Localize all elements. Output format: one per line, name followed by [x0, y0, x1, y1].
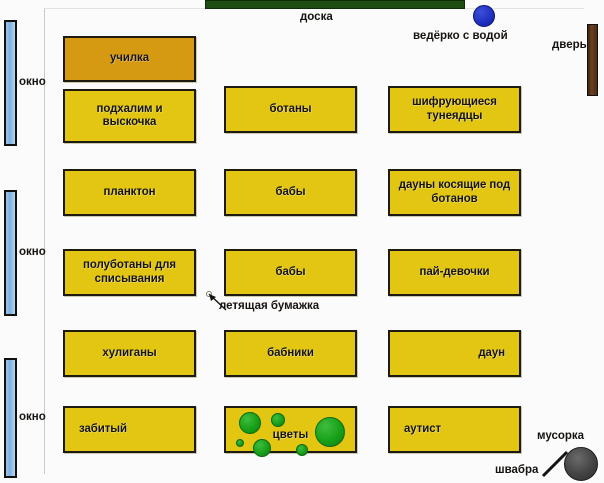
desk-label: ботаны [265, 103, 315, 116]
student-desk: подхалим и выскочка [63, 89, 196, 143]
student-desk: бабники [224, 330, 357, 377]
teacher-desk: училка [63, 36, 196, 82]
window-1 [4, 20, 17, 146]
flower-pot-icon [253, 439, 271, 457]
flying-paper-label: летящая бумажка [219, 300, 319, 312]
student-desk: полуботаны для списывания [63, 249, 196, 296]
flower-pot-icon [271, 413, 285, 427]
window-label-1: окно [19, 76, 46, 88]
mop-label: швабра [495, 464, 538, 476]
classroom-seating-diagram: доска ведёрко с водой дверь окноокноокно… [0, 0, 604, 483]
desk-label: бабы [271, 266, 309, 279]
window-3 [4, 358, 17, 478]
desk-label: бабники [263, 347, 318, 360]
desk-label: училка [106, 52, 153, 65]
flower-pot-icon [296, 444, 308, 456]
student-desk: пай-девочки [388, 249, 521, 296]
window-label-2: окно [19, 246, 46, 258]
desk-label: даун [474, 347, 519, 360]
desk-label: шифрующиеся тунеядцы [390, 96, 519, 122]
water-bucket-label: ведёрко с водой [413, 30, 508, 42]
desk-label: подхалим и выскочка [65, 103, 194, 129]
blackboard [205, 0, 465, 9]
student-desk: забитый [63, 406, 196, 453]
flowers-desk: цветы [224, 406, 357, 453]
window-label-3: окно [19, 411, 46, 423]
trash-can-icon [564, 447, 598, 481]
student-desk: даун [388, 330, 521, 377]
student-desk: бабы [224, 249, 357, 296]
blackboard-label: доска [300, 11, 333, 23]
window-2 [4, 190, 17, 316]
desk-label: планктон [99, 186, 159, 199]
student-desk: шифрующиеся тунеядцы [388, 86, 521, 133]
desk-label: полуботаны для списывания [65, 259, 194, 285]
trash-can-label: мусорка [537, 430, 584, 442]
desk-label: аутист [390, 423, 445, 436]
water-bucket-icon [473, 5, 495, 27]
student-desk: хулиганы [63, 330, 196, 377]
desk-label: дауны косящие под ботанов [390, 179, 519, 205]
desk-label: хулиганы [98, 347, 160, 360]
door [587, 24, 598, 96]
student-desk: ботаны [224, 86, 357, 133]
desk-label: пай-девочки [416, 266, 494, 279]
student-desk: аутист [388, 406, 521, 453]
student-desk: планктон [63, 169, 196, 216]
door-label: дверь [552, 39, 587, 51]
desk-label: забитый [65, 423, 131, 436]
desk-label: бабы [271, 186, 309, 199]
flowers-label: цветы [226, 429, 355, 441]
student-desk: дауны косящие под ботанов [388, 169, 521, 216]
student-desk: бабы [224, 169, 357, 216]
